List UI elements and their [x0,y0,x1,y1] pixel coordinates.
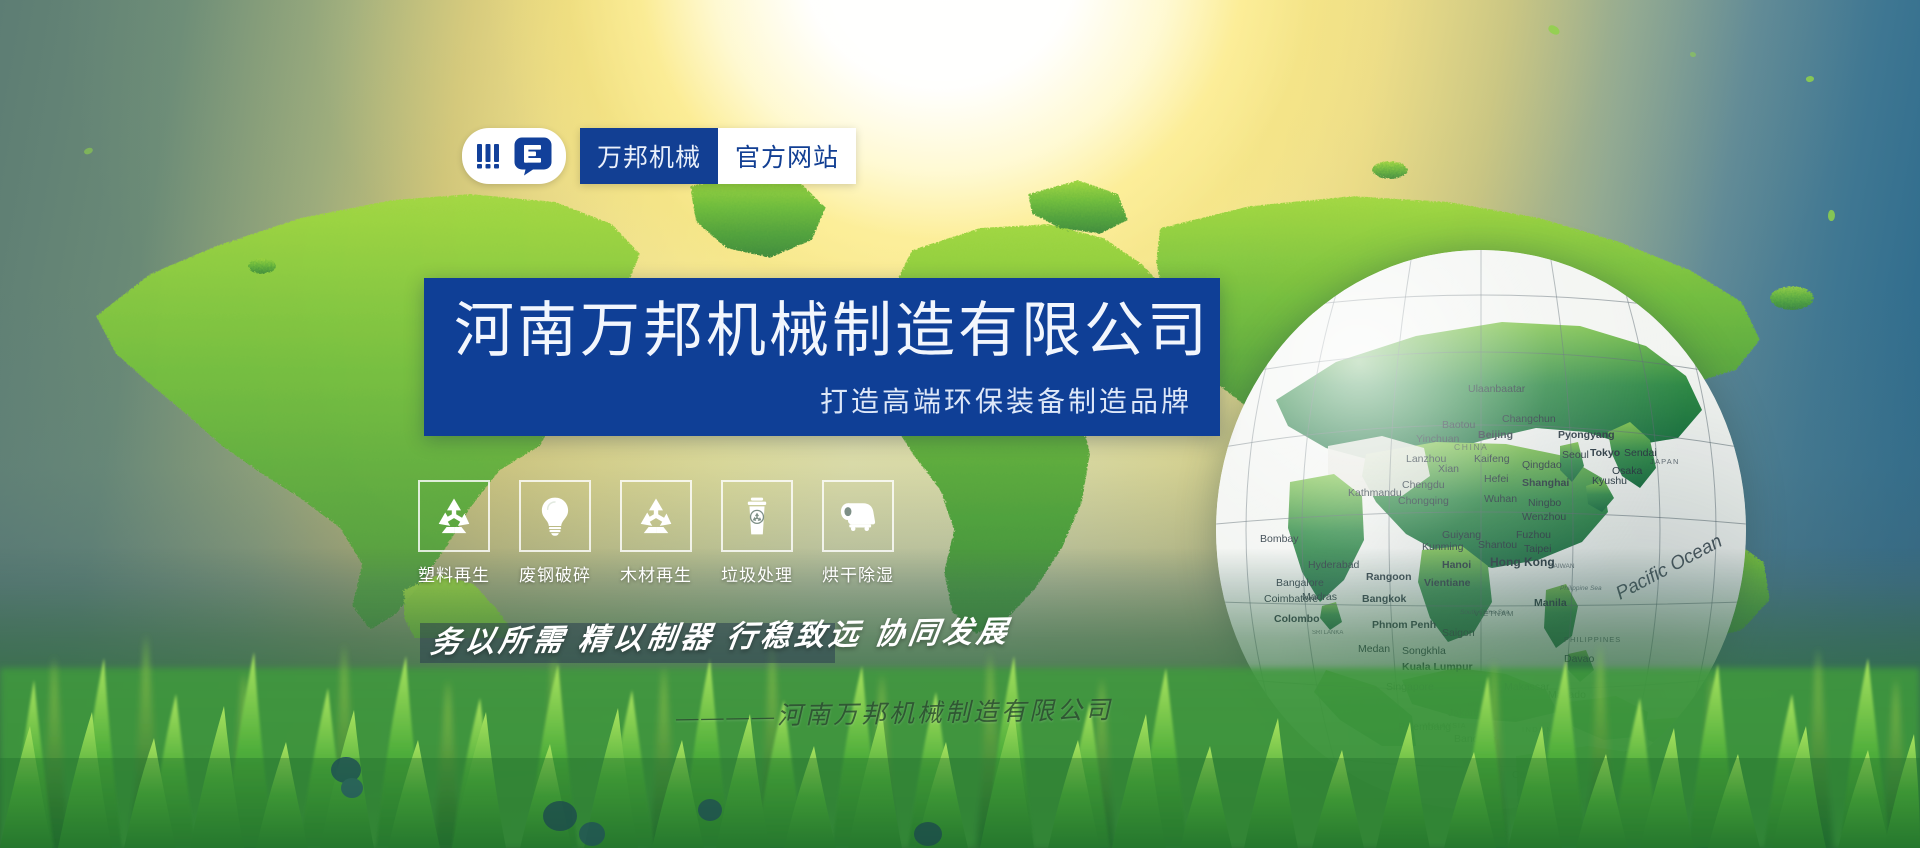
svg-text:Kaifeng: Kaifeng [1474,453,1510,465]
service-label: 木材再生 [620,561,692,586]
service-icon-box [620,480,692,552]
service-icon-box [519,480,591,552]
svg-text:Tokyo: Tokyo [1590,447,1620,459]
service-item-waste-treatment[interactable]: 垃圾处理 [723,480,791,586]
service-item-drying-dehumidifying[interactable]: 烘干除湿 [824,480,892,586]
svg-text:Chengdu: Chengdu [1402,479,1445,491]
svg-text:Yinchuan: Yinchuan [1416,433,1460,445]
service-label: 塑料再生 [418,561,490,586]
service-icon-row: 塑料再生 废钢破碎 [420,480,892,586]
svg-text:Sendai: Sendai [1624,447,1657,459]
company-name: 河南万邦机械制造有限公司 [454,298,1210,364]
lightbulb-icon [534,495,576,537]
svg-text:Bombay: Bombay [1260,533,1299,545]
service-icon-box [418,480,490,552]
svg-text:Changchun: Changchun [1502,413,1556,425]
svg-text:Pyongyang: Pyongyang [1558,429,1615,441]
svg-text:Seoul: Seoul [1562,449,1589,461]
trash-bin-icon [736,495,778,537]
floating-leaf-mote [1690,52,1696,57]
svg-text:Ulaanbaatar: Ulaanbaatar [1468,383,1526,395]
svg-text:Qingdao: Qingdao [1522,459,1562,471]
hero-banner: Pacific Ocean Indian Ocean CHINA JAPAN V… [0,0,1920,848]
logo-b-bubble-icon [513,136,553,176]
svg-text:Beijing: Beijing [1478,429,1513,441]
slogan-signature: ————河南万邦机械制造有限公司 [676,690,1113,734]
svg-text:Kyushu: Kyushu [1592,475,1627,487]
service-item-wood-recycling[interactable]: 木材再生 [622,480,690,586]
svg-text:Wenzhou: Wenzhou [1522,511,1566,523]
header-tabs: 万邦机械 官方网站 [580,128,856,184]
company-tagline: 打造高端环保装备制造品牌 [820,380,1192,420]
tab-official-site[interactable]: 官方网站 [718,128,856,184]
svg-text:Ningbo: Ningbo [1528,497,1561,509]
tab-wanbang-jixie[interactable]: 万邦机械 [580,128,718,184]
recycle-icon [433,495,475,537]
company-logo[interactable] [462,128,566,184]
svg-text:Kathmandu: Kathmandu [1348,487,1402,499]
svg-text:Chongqing: Chongqing [1398,495,1449,507]
service-icon-box [822,480,894,552]
svg-text:Shanghai: Shanghai [1522,477,1569,489]
dryer-blower-icon [837,495,879,537]
svg-text:Baotou: Baotou [1442,419,1475,431]
svg-text:Hefei: Hefei [1484,473,1509,485]
service-label: 垃圾处理 [721,561,793,586]
svg-text:Wuhan: Wuhan [1484,493,1517,505]
service-label: 废钢破碎 [519,561,591,586]
service-item-plastic-recycling[interactable]: 塑料再生 [420,480,488,586]
svg-text:Xian: Xian [1438,463,1459,475]
svg-text:Guiyang: Guiyang [1442,529,1481,541]
service-icon-box [721,480,793,552]
service-item-scrap-steel-crushing[interactable]: 废钢破碎 [521,480,589,586]
svg-text:Fuzhou: Fuzhou [1516,529,1551,541]
service-label: 烘干除湿 [822,561,894,586]
site-header: 万邦机械 官方网站 [462,128,856,184]
company-title-panel: 河南万邦机械制造有限公司 打造高端环保装备制造品牌 [424,278,1220,436]
recycle-icon [635,495,677,537]
logo-w-icon [475,142,507,170]
